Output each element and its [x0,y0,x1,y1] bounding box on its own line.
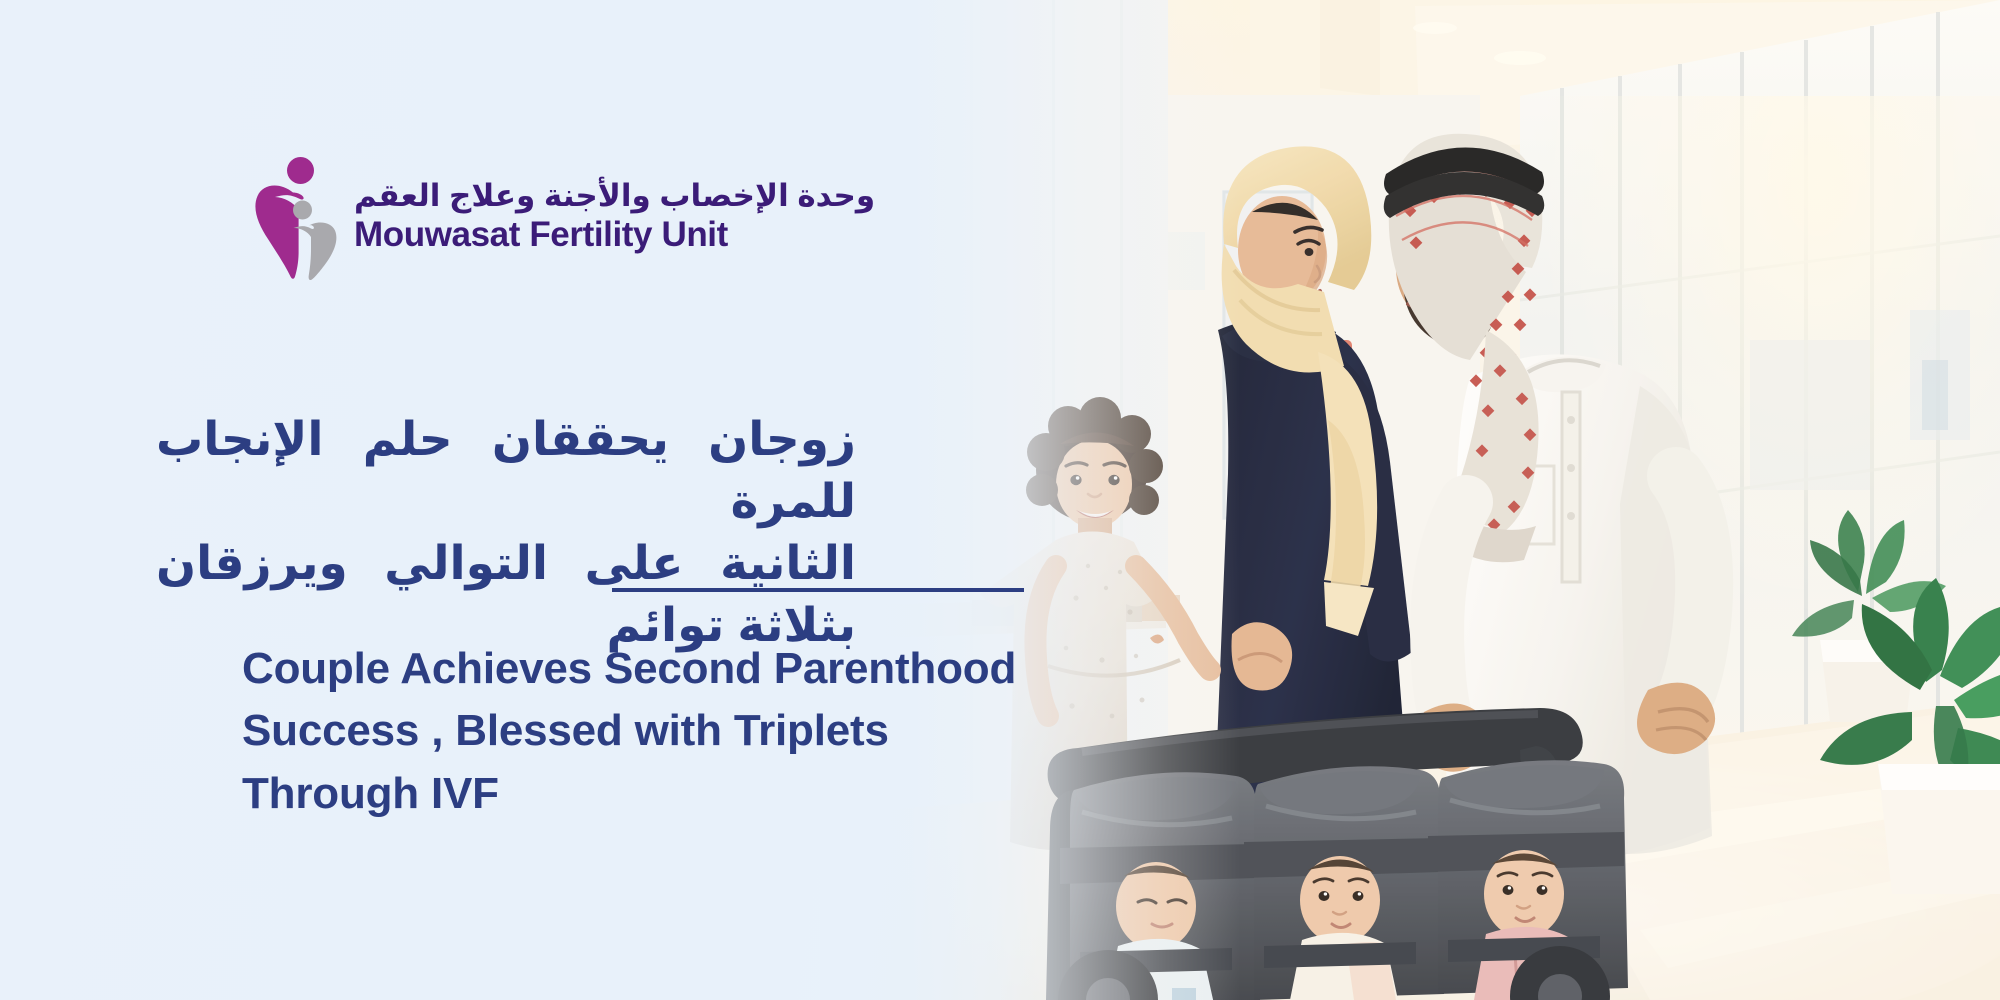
logo-wordmark: وحدة الإخصاب والأجنة وعلاج العقم Mouwasa… [354,178,875,254]
banner-content: وحدة الإخصاب والأجنة وعلاج العقم Mouwasa… [0,0,1080,1000]
arabic-headline: زوجان يحققان حلم الإنجاب للمرة الثانية ع… [156,408,856,656]
arabic-headline-line-1: زوجان يحققان حلم الإنجاب للمرة [156,412,856,527]
mouwasat-parent-child-heart-logo-icon [252,152,340,280]
logo-arabic-name: وحدة الإخصاب والأجنة وعلاج العقم [354,178,875,214]
logo-english-name: Mouwasat Fertility Unit [354,216,875,255]
mouwasat-fertility-unit-logo: وحدة الإخصاب والأجنة وعلاج العقم Mouwasa… [252,152,875,280]
fertility-unit-news-banner: وحدة الإخصاب والأجنة وعلاج العقم Mouwasa… [0,0,2000,1000]
headline-divider [612,588,1024,592]
english-headline: Couple Achieves Second Parenthood Succes… [242,638,1072,825]
